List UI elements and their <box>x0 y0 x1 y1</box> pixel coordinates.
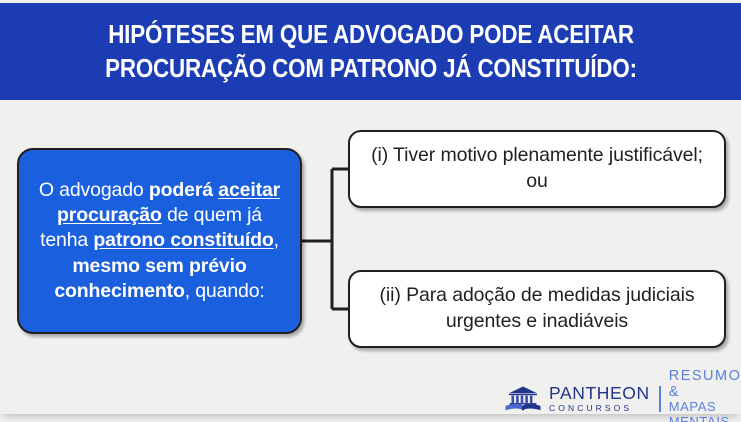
outcome-node-2-text: (ii) Para adoção de medidas judiciais ur… <box>350 283 724 334</box>
outcome-node-1-text: (i) Tiver motivo plenamente justificável… <box>350 143 724 194</box>
premise-node: O advogado poderá aceitar procuração de … <box>17 148 302 334</box>
brand-name: PANTHEON <box>549 385 650 403</box>
pantheon-temple-book-icon <box>503 385 543 413</box>
header-banner: HIPÓTESES EM QUE ADVOGADO PODE ACEITAR P… <box>0 3 741 100</box>
outcome-node-1: (i) Tiver motivo plenamente justificável… <box>348 130 726 208</box>
brand-logo: PANTHEON CONCURSOS RESUMOS & MAPAS MENTA… <box>503 368 741 422</box>
premise-node-text: O advogado poderá aceitar procuração de … <box>19 178 300 305</box>
logo-divider <box>659 386 661 412</box>
page-title: HIPÓTESES EM QUE ADVOGADO PODE ACEITAR P… <box>87 18 655 86</box>
brand-tagline-line-2: MAPAS MENTAIS <box>669 400 741 422</box>
brand-tagline: RESUMOS & MAPAS MENTAIS <box>669 368 741 422</box>
brand-subtitle: CONCURSOS <box>549 404 650 413</box>
brand-wordmark: PANTHEON CONCURSOS <box>549 385 650 413</box>
slide-canvas: HIPÓTESES EM QUE ADVOGADO PODE ACEITAR P… <box>0 0 741 422</box>
brand-tagline-line-1: RESUMOS & <box>669 368 741 400</box>
outcome-node-2: (ii) Para adoção de medidas judiciais ur… <box>348 270 726 348</box>
